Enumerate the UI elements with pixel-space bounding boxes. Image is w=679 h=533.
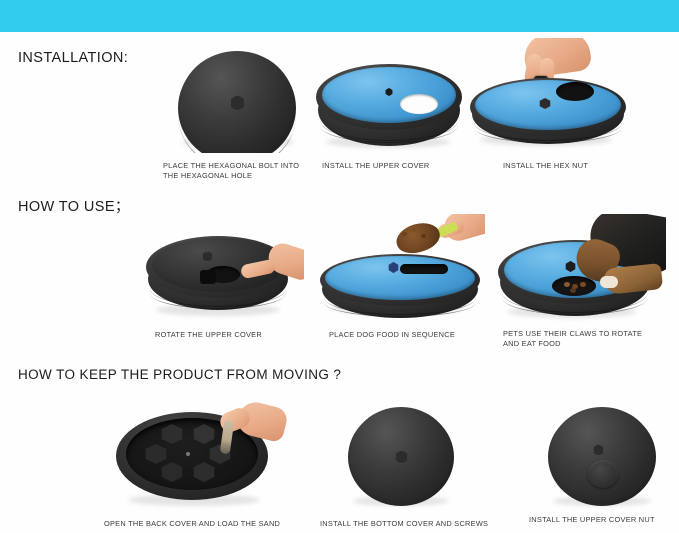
caption-step-2-3: PETS USE THEIR CLAWS TO ROTATE AND EAT F… — [503, 329, 673, 348]
figure-dog-eating-from-feeder — [494, 214, 666, 324]
figure-open-back-cover-loading-sand — [108, 398, 294, 514]
caption-step-2-1: ROTATE THE UPPER COVER — [155, 330, 315, 340]
caption-step-3-1: OPEN THE BACK COVER AND LOAD THE SAND — [104, 519, 314, 529]
figure-bottom-cover-with-screw — [343, 404, 463, 514]
caption-step-2-2: PLACE DOG FOOD IN SEQUENCE — [329, 330, 504, 340]
caption-step-3-2: INSTALL THE BOTTOM COVER AND SCREWS — [320, 519, 520, 529]
figure-blue-upper-cover-on-base — [312, 52, 467, 154]
caption-step-3-3: INSTALL THE UPPER COVER NUT — [529, 515, 679, 525]
figure-hand-installing-hex-nut — [468, 38, 633, 154]
section-title-how-to-use: HOW TO USE； — [18, 195, 130, 216]
cover-nut-ring — [588, 460, 618, 488]
figure-upper-cover-nut-disc — [543, 404, 665, 514]
food-compartment-opening — [400, 264, 448, 274]
food-compartment-opening — [400, 94, 438, 114]
figure-hand-rotating-black-upper-cover — [144, 224, 304, 324]
caption-step-1-3: INSTALL THE HEX NUT — [503, 161, 668, 171]
section-title-keep-from-moving: HOW TO KEEP THE PRODUCT FROM MOVING ? — [18, 367, 341, 382]
caption-step-1-1: PLACE THE HEXAGONAL BOLT INTO THE HEXAGO… — [163, 161, 323, 180]
figure-black-base-disc-with-hex-bolt — [168, 48, 308, 153]
instruction-sheet: INSTALLATION: PLACE THE HEXAGONAL BOLT I… — [0, 0, 679, 533]
caption-step-1-2: INSTALL THE UPPER COVER — [322, 161, 482, 171]
food-compartment-opening — [556, 82, 594, 101]
header-banner — [0, 0, 679, 32]
section-title-installation: INSTALLATION: — [18, 50, 128, 66]
kibble-pile — [393, 218, 443, 257]
figure-hand-scooping-dog-food-into-feeder — [320, 214, 485, 324]
